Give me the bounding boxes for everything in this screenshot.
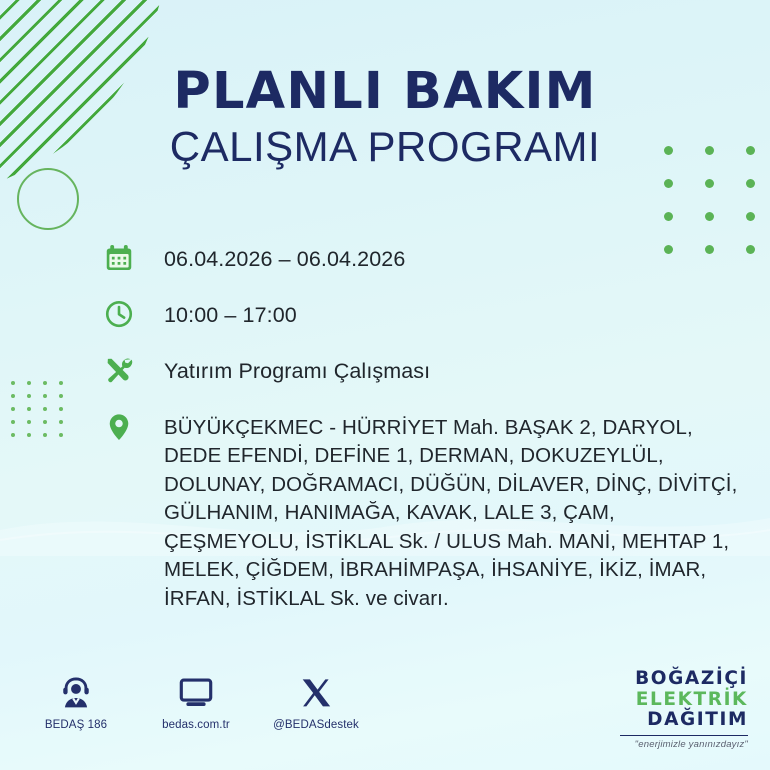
- footer: BEDAŞ 186 bedas.com.tr @BEDASdestek: [0, 670, 770, 756]
- location-text: BÜYÜKÇEKMEC - HÜRRİYET Mah. BAŞAK 2, DAR…: [164, 411, 754, 613]
- info-row-location: BÜYÜKÇEKMEC - HÜRRİYET Mah. BAŞAK 2, DAR…: [104, 411, 754, 613]
- brand-line-bogazici: BOĞAZİÇİ: [620, 670, 748, 689]
- brand-tagline: "enerjimizle yanınızdayız": [620, 740, 748, 750]
- info-row-work-type: Yatırım Programı Çalışması: [104, 355, 754, 389]
- location-pin-icon: [104, 412, 138, 446]
- contact-call-center[interactable]: BEDAŞ 186: [30, 672, 122, 731]
- clock-icon: [104, 299, 138, 333]
- contact-website[interactable]: bedas.com.tr: [150, 672, 242, 731]
- headset-support-icon: [30, 672, 122, 714]
- x-twitter-icon: [270, 672, 362, 714]
- contact-label: bedas.com.tr: [150, 719, 242, 731]
- monitor-icon: [150, 672, 242, 714]
- poster-canvas: PLANLI BAKIM ÇALIŞMA PROGRAMI 06: [0, 0, 770, 770]
- calendar-icon: [104, 243, 138, 277]
- brand-logo: BOĞAZİÇİ ELEKTRİK DAĞITIM "enerjimizle y…: [620, 670, 748, 749]
- info-list: 06.04.2026 – 06.04.2026 10:00 – 17:00 Ya…: [104, 243, 754, 613]
- page-title: PLANLI BAKIM: [0, 66, 770, 117]
- dot-grid-decoration-left: [11, 381, 75, 446]
- contact-label: @BEDASdestek: [270, 719, 362, 731]
- circle-outline-decoration: [17, 168, 79, 230]
- date-range-text: 06.04.2026 – 06.04.2026: [164, 243, 405, 274]
- brand-line-dagitim: DAĞITIM: [620, 711, 748, 730]
- info-row-date: 06.04.2026 – 06.04.2026: [104, 243, 754, 277]
- brand-divider: [620, 735, 748, 736]
- contact-channels: BEDAŞ 186 bedas.com.tr @BEDASdestek: [30, 672, 362, 731]
- page-subtitle: ÇALIŞMA PROGRAMI: [0, 125, 770, 169]
- contact-label: BEDAŞ 186: [30, 719, 122, 731]
- info-row-time: 10:00 – 17:00: [104, 299, 754, 333]
- header: PLANLI BAKIM ÇALIŞMA PROGRAMI: [0, 66, 770, 169]
- work-type-text: Yatırım Programı Çalışması: [164, 355, 430, 386]
- tools-icon: [104, 355, 138, 389]
- brand-line-elektrik: ELEKTRİK: [620, 691, 748, 710]
- contact-x-account[interactable]: @BEDASdestek: [270, 672, 362, 731]
- time-range-text: 10:00 – 17:00: [164, 299, 297, 330]
